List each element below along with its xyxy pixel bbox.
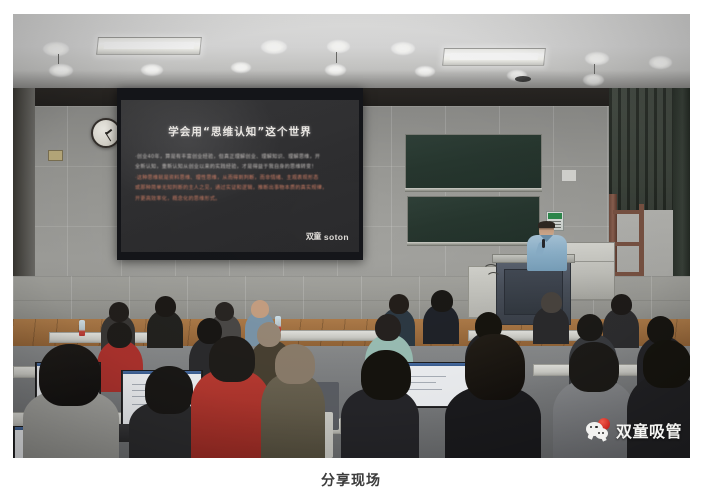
wechat-bubble-small: [595, 428, 608, 439]
audience-head-mid-1: [107, 322, 132, 348]
podium-cables: [483, 262, 505, 290]
blackboard-rail-upper: [405, 188, 542, 192]
wall-plate: [48, 150, 63, 161]
downlight-11: [585, 52, 609, 65]
slide-bullet-1: ·创业40年，算是有丰富创业经验，但真正理解创业、理解知识、理解思维，开: [135, 152, 347, 162]
page-root: 学会用“思维认知”这个世界 ·创业40年，算是有丰富创业经验，但真正理解创业、理…: [0, 0, 702, 499]
slide-brand-logo: 双童 soton: [306, 231, 349, 242]
audience-head-back-4: [251, 300, 269, 318]
audience-head-back-5: [389, 294, 409, 314]
audience-head-front-1: [39, 344, 101, 406]
panel-light-1: [96, 37, 202, 55]
audience-head-back-2: [155, 296, 176, 317]
post-brace-2: [613, 242, 641, 246]
audience-head-mid-3: [257, 322, 281, 347]
water-bottle-1: [79, 320, 85, 336]
audience-head-front-7: [569, 342, 619, 392]
audience-head-front-2: [145, 366, 193, 414]
projection-screen: 学会用“思维认知”这个世界 ·创业40年，算是有丰富创业经验，但真正理解创业、理…: [121, 100, 359, 252]
audience-head-front-4: [275, 344, 315, 384]
audience-head-mid-4: [375, 314, 401, 341]
audience-head-back-6: [431, 290, 453, 312]
panel-light-2: [442, 48, 546, 66]
downlight-6: [327, 40, 350, 53]
lecture-hall-photo: 学会用“思维认知”这个世界 ·创业40年，算是有丰富创业经验，但真正理解创业、理…: [13, 14, 690, 458]
downlight-5: [261, 40, 287, 54]
slide-bullet-4: 或那种简单无知判断的主人之见，通过实证和逻辑，推断出事物本质的真实规律，: [135, 183, 347, 193]
audience-head-back-1: [109, 302, 129, 322]
wechat-icon: [586, 420, 612, 440]
speaker-hair: [538, 221, 555, 228]
audience-head-back-7: [541, 292, 562, 313]
wechat-eye-left: [590, 426, 592, 428]
window-curtain-right: [673, 88, 690, 278]
downlight-13: [649, 56, 672, 69]
audience-front-8: [627, 376, 690, 458]
clock-center-dot: [105, 132, 107, 134]
blackboard-group: [405, 134, 542, 246]
slide-bullet-5: 开更高效率化，概念化的思维形式。: [135, 194, 347, 204]
cable-loop-2: [486, 272, 501, 286]
slide-bullet-2: 全新认知，重新认知从创业以来的实践经验，才是得益于我自身的思维转变！: [135, 162, 347, 172]
wall-switch: [561, 169, 577, 182]
wechat-small-eye-left: [598, 432, 600, 434]
wechat-watermark: 双童吸管: [586, 418, 682, 442]
audience-front-3: [191, 370, 271, 458]
wechat-small-eye-right: [602, 432, 604, 434]
slide-title: 学会用“思维认知”这个世界: [121, 124, 359, 139]
audience-head-front-3: [209, 336, 255, 382]
photo-caption: 分享现场: [0, 470, 702, 490]
slide-bullet-3: ·这种思维就是资料思维、理性思维，从而得到判断，而非情绪、主观表现形态: [135, 173, 347, 183]
slide-logo-cn: 双童: [306, 231, 321, 242]
watermark-text: 双童吸管: [616, 418, 682, 442]
slide-logo-en: soton: [324, 233, 349, 242]
blackboard-rail-lower: [407, 242, 540, 246]
microphone-icon: [542, 239, 545, 248]
clock-hand-minute: [106, 133, 112, 141]
audience-head-front-6: [465, 334, 525, 400]
audience-head-mid-6: [577, 314, 603, 341]
audience-head-front-5: [361, 350, 411, 400]
blackboard-upper: [405, 134, 542, 192]
audience-front-4: [261, 374, 325, 458]
speaker-person: [526, 222, 568, 268]
sign-green-bar: [548, 213, 562, 219]
audience-head-back-8: [611, 294, 632, 315]
audience-head-back-3: [215, 302, 234, 321]
pendant-rod-1: [58, 54, 59, 64]
downlight-1: [43, 42, 69, 56]
downlight-8: [391, 42, 415, 55]
slide-body: ·创业40年，算是有丰富创业经验，但真正理解创业、理解知识、理解思维，开 全新认…: [135, 152, 347, 204]
projection-screen-frame: 学会用“思维认知”这个世界 ·创业40年，算是有丰富创业经验，但真正理解创业、理…: [117, 88, 363, 260]
blackboard-lower: [407, 196, 540, 246]
pendant-rod-2: [336, 52, 337, 63]
audience-head-front-8: [643, 340, 690, 388]
